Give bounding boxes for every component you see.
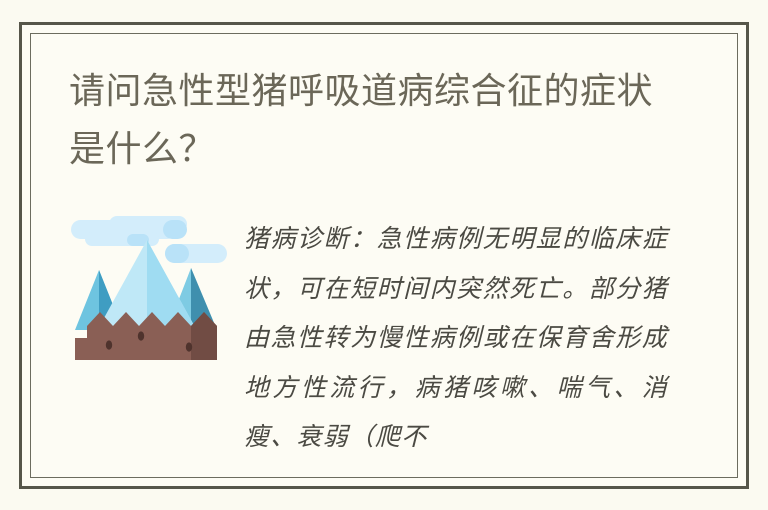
article-body-text: 猪病诊断：急性病例无明显的临床症状，可在短时间内突然死亡。部分猪由急性转为慢性病… (244, 214, 668, 462)
cloud-small-icon (165, 244, 227, 263)
mountain-illustration-svg (67, 214, 233, 366)
page-title: 请问急性型猪呼吸道病综合征的症状是什么？ (69, 62, 679, 179)
page-root: 请问急性型猪呼吸道病综合征的症状是什么？ (0, 0, 768, 510)
card-inner-frame: 请问急性型猪呼吸道病综合征的症状是什么？ (30, 33, 738, 478)
card-outer-frame: 请问急性型猪呼吸道病综合征的症状是什么？ (19, 22, 749, 489)
content-row: 猪病诊断：急性病例无明显的临床症状，可在短时间内突然死亡。部分猪由急性转为慢性病… (31, 206, 737, 477)
cloud-icon (71, 216, 187, 246)
mountain-illustration (67, 214, 233, 366)
